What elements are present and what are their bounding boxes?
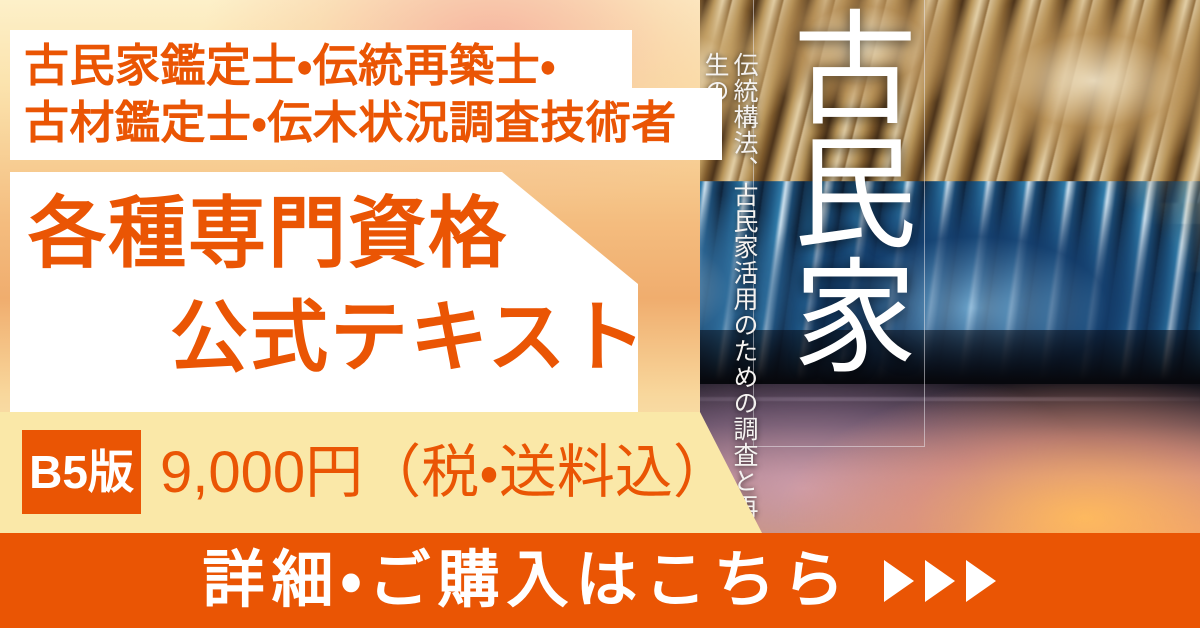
format-badge: B5版 [22, 430, 141, 514]
price-text: 9,000円（税・送料込） [160, 438, 731, 508]
heading-panel: 古民家鑑定士・伝統再築士・ 古材鑑定士・伝木状況調査技術者 [10, 30, 722, 160]
triangle-right-icon [923, 558, 957, 604]
cta-arrow-group [882, 558, 998, 604]
triangle-right-icon [882, 558, 916, 604]
book-cover: 伝統構法、古民家活用のための調査と再生の 古民家 [735, 0, 965, 533]
title-line-2: 公式テキスト [170, 298, 648, 376]
cta-label: 詳細・ご購入はこちら [202, 550, 851, 612]
cta-bar[interactable]: 詳細・ご購入はこちら [0, 533, 1200, 628]
book-cover-title: 古民家 [757, 4, 919, 474]
heading-line-1: 古民家鑑定士・伝統再築士・ [24, 43, 556, 88]
heading-line-2: 古材鑑定士・伝木状況調査技術者 [24, 100, 677, 145]
triangle-right-icon [964, 558, 998, 604]
price-panel: B5版 9,000円（税・送料込） [0, 412, 790, 533]
promo-banner: 伝統構法、古民家活用のための調査と再生の 古民家 古民家鑑定士・伝統再築士・ 古… [0, 0, 1200, 628]
title-line-1: 各種専門資格 [28, 194, 508, 272]
